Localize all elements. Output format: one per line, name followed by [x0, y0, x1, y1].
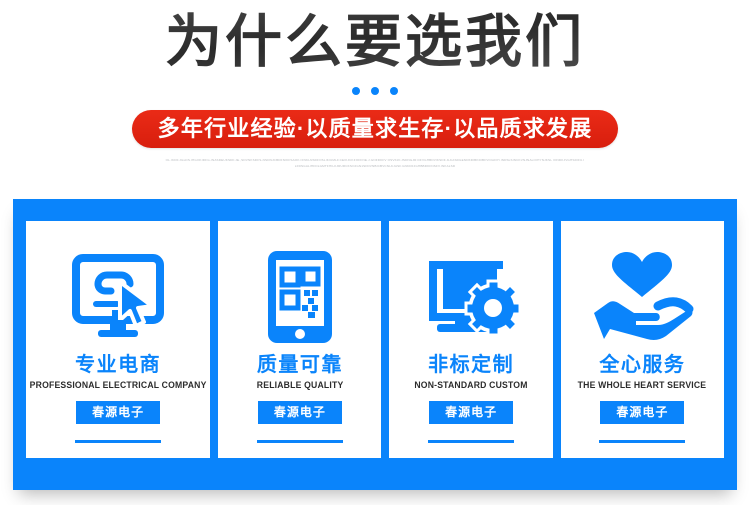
feature-card[interactable]: 非标定制 NON-STANDARD CUSTOM 春源电子 [389, 221, 552, 458]
feature-title-en: RELIABLE QUALITY [257, 379, 344, 391]
page-header: 为什么要选我们 多年行业经验·以质量求生存·以品质求发展 OL.IKDF.JGL… [0, 0, 750, 169]
card-divider [75, 440, 161, 443]
phone-qrcode-icon [265, 247, 335, 347]
tagline-ribbon: 多年行业经验·以质量求生存·以品质求发展 [132, 110, 619, 148]
feature-title-en: THE WHOLE HEART SERVICE [578, 379, 707, 391]
feature-title-en: PROFESSIONAL ELECTRICAL COMPANY [30, 379, 207, 391]
card-divider [599, 440, 685, 443]
dot-icon [371, 87, 379, 95]
brand-badge[interactable]: 春源电子 [258, 401, 342, 424]
card-divider [257, 440, 343, 443]
hand-heart-icon [590, 247, 694, 347]
feature-title-cn: 全心服务 [599, 353, 685, 377]
brand-badge[interactable]: 春源电子 [429, 401, 513, 424]
feature-panel: 专业电商 PROFESSIONAL ELECTRICAL COMPANY 春源电… [13, 199, 737, 490]
feature-card[interactable]: 质量可靠 RELIABLE QUALITY 春源电子 [218, 221, 381, 458]
monitor-cursor-icon [72, 247, 164, 347]
feature-title-cn: 质量可靠 [257, 353, 343, 377]
feature-card-list: 专业电商 PROFESSIONAL ELECTRICAL COMPANY 春源电… [26, 221, 724, 458]
feature-title-cn: 非标定制 [428, 353, 514, 377]
feature-title-en: NON-STANDARD CUSTOM [414, 379, 527, 391]
brand-badge[interactable]: 春源电子 [600, 401, 684, 424]
dot-separator [0, 86, 750, 96]
ribbon-container: 多年行业经验·以质量求生存·以品质求发展 [0, 110, 750, 148]
brand-badge[interactable]: 春源电子 [76, 401, 160, 424]
card-divider [428, 440, 514, 443]
feature-title-cn: 专业电商 [75, 353, 161, 377]
dot-icon [352, 87, 360, 95]
feature-card[interactable]: 全心服务 THE WHOLE HEART SERVICE 春源电子 [561, 221, 724, 458]
page-title: 为什么要选我们 [0, 10, 750, 76]
monitor-gear-icon [421, 247, 521, 347]
feature-card[interactable]: 专业电商 PROFESSIONAL ELECTRICAL COMPANY 春源电… [26, 221, 210, 458]
decorative-filler-text: OL.IKDF.JGLDS.IHGOKIDFG-INASDEUKSDF.JE.,… [165, 157, 585, 169]
dot-icon [390, 87, 398, 95]
